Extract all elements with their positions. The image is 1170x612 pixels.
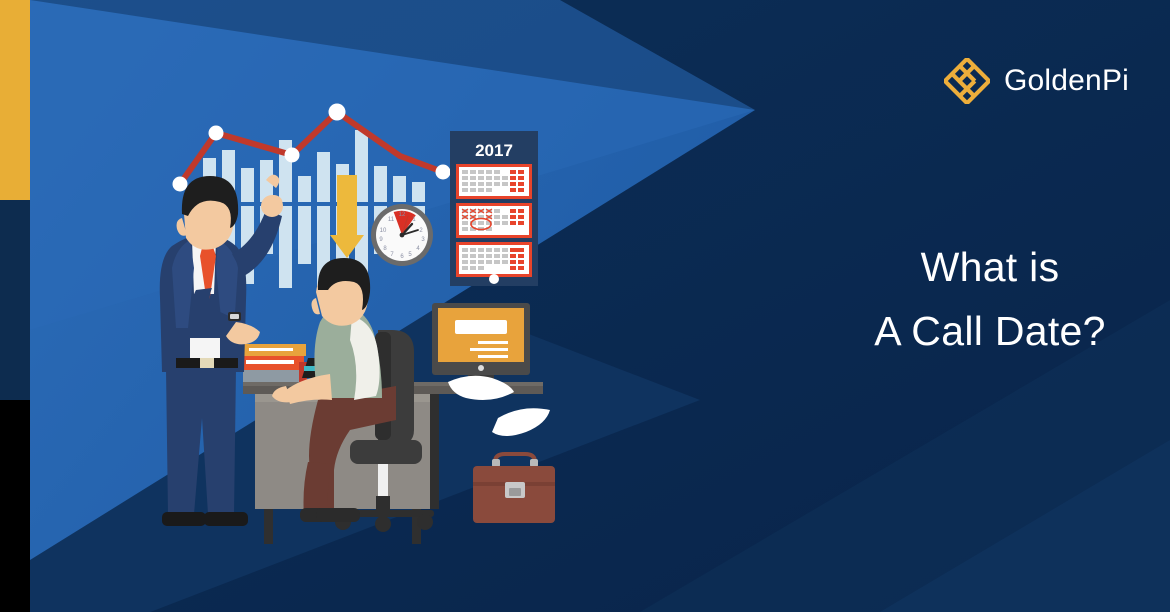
wall-clock-graphic: 121 23 45 67 89 1011 bbox=[371, 204, 433, 266]
calendar-month-panel bbox=[456, 164, 532, 199]
wall-calendar-graphic: 2017 bbox=[450, 131, 538, 286]
svg-text:12: 12 bbox=[399, 212, 406, 218]
calendar-hanger-dot bbox=[489, 274, 499, 284]
banner-canvas: 121 23 45 67 89 1011 2017 bbox=[0, 0, 1170, 612]
goldenpi-diamond-logo-icon bbox=[944, 58, 990, 104]
headline-line-1: What is bbox=[921, 244, 1060, 290]
brand-name: GoldenPi bbox=[1004, 66, 1129, 96]
svg-text:11: 11 bbox=[388, 217, 395, 223]
calendar-month-panel bbox=[456, 203, 532, 238]
page-title: What is A Call Date? bbox=[820, 236, 1160, 363]
edge-bar-black bbox=[0, 400, 30, 612]
edge-bar-navy bbox=[0, 200, 30, 400]
calendar-year-label: 2017 bbox=[475, 141, 513, 160]
edge-bar-gold bbox=[0, 0, 30, 200]
svg-text:10: 10 bbox=[380, 228, 387, 234]
headline-line-2: A Call Date? bbox=[820, 300, 1160, 364]
brand-lockup[interactable]: GoldenPi bbox=[944, 58, 1129, 104]
calendar-month-panel bbox=[456, 242, 532, 277]
